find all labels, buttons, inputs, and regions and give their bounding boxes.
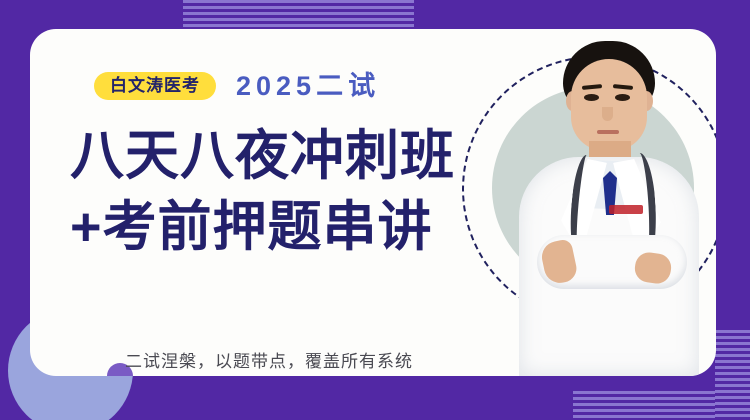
promo-poster: 白文涛医考 2025二试 八天八夜冲刺班 +考前押题串讲 二试涅槃，以题带点，覆… xyxy=(0,0,750,420)
portrait-face xyxy=(571,59,647,151)
year-label: 2025二试 xyxy=(236,73,380,100)
doctor-portrait-image xyxy=(485,29,716,376)
subtitle: 二试涅槃，以题带点，覆盖所有系统 xyxy=(125,347,413,372)
portrait-nose xyxy=(602,107,613,121)
brand-badge: 白文涛医考 xyxy=(94,72,216,100)
portrait-eye-right xyxy=(615,94,630,101)
portrait-eye-left xyxy=(584,94,599,101)
stripe-band-right-decoration xyxy=(715,330,750,420)
headline-line-1: 八天八夜冲刺班 xyxy=(70,126,455,186)
headline: 八天八夜冲刺班 +考前押题串讲 xyxy=(70,121,455,264)
stripe-band-top-decoration xyxy=(183,0,414,29)
portrait-mouth xyxy=(597,130,619,134)
headline-line-2: +考前押题串讲 xyxy=(70,192,455,263)
badge-row: 白文涛医考 2025二试 xyxy=(94,72,380,100)
content-card: 白文涛医考 2025二试 八天八夜冲刺班 +考前押题串讲 二试涅槃，以题带点，覆… xyxy=(30,29,716,376)
